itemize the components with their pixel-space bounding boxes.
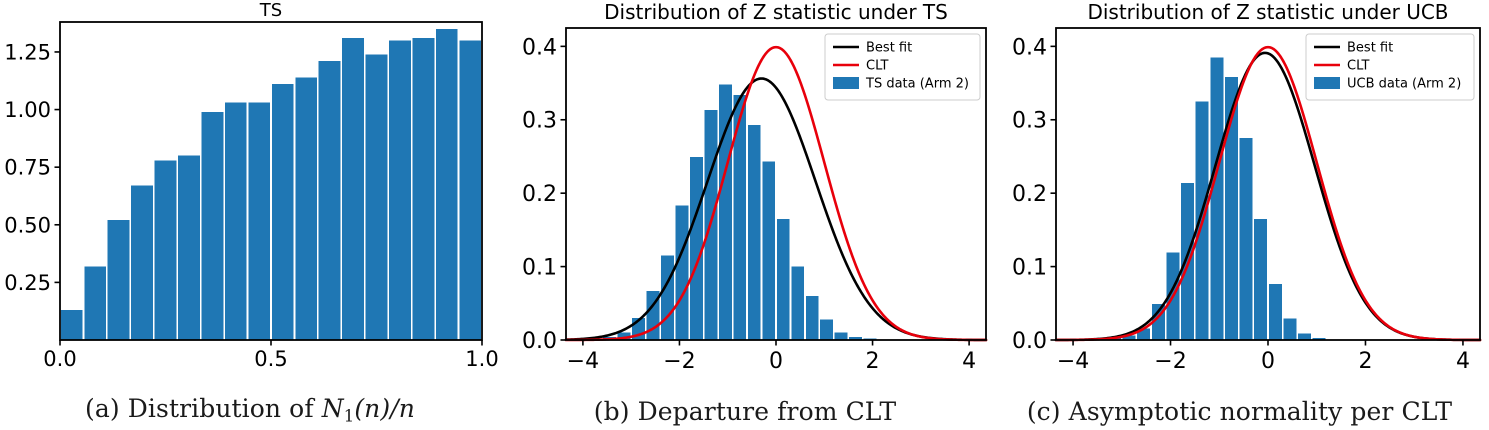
panel-a-plot: TS0.00.51.00.250.500.751.001.25: [0, 0, 500, 390]
x-tick-label: 4: [962, 349, 976, 374]
histogram-bar: [61, 310, 83, 340]
histogram-bar: [389, 40, 411, 340]
x-tick-label: 0: [1261, 349, 1275, 374]
three-panel-figure: TS0.00.51.00.250.500.751.001.25 (a) Dist…: [0, 0, 1489, 430]
x-tick-label: 0.0: [43, 347, 76, 371]
caption-a-math-tail: (n)/n: [354, 394, 415, 423]
histogram-bar: [762, 162, 775, 340]
histogram-bar: [661, 256, 674, 340]
histogram-bar: [675, 206, 688, 340]
panel-b-plot: Distribution of Z statistic under TS−4−2…: [500, 0, 990, 390]
histogram-bar: [1298, 333, 1311, 340]
y-tick-label: 0.1: [1012, 256, 1047, 281]
y-tick-label: 0.3: [522, 109, 557, 134]
panel-a-caption: (a) Distribution of N1(n)/n: [0, 394, 500, 426]
y-tick-label: 0.25: [4, 271, 51, 295]
panel-title: Distribution of Z statistic under UCB: [1087, 0, 1448, 24]
histogram-bar: [806, 296, 819, 340]
histogram-bar: [459, 40, 481, 340]
x-tick-label: −4: [1057, 349, 1089, 374]
y-tick-label: 0.2: [1012, 182, 1047, 207]
histogram-bar: [1283, 319, 1296, 340]
panel-a-ts-histogram: TS0.00.51.00.250.500.751.001.25 (a) Dist…: [0, 0, 500, 430]
histogram-bar: [412, 38, 434, 340]
caption-a-math-sub: 1: [344, 407, 355, 426]
histogram-bar: [748, 125, 761, 340]
histogram-bar: [791, 267, 804, 340]
histogram-bar: [820, 319, 833, 340]
panel-c-ucb-zstat: Distribution of Z statistic under UCB−4−…: [990, 0, 1489, 430]
y-tick-label: 0.1: [522, 256, 557, 281]
histogram-bar: [225, 103, 247, 340]
y-tick-label: 0.0: [522, 329, 557, 354]
y-tick-label: 0.4: [522, 35, 557, 60]
caption-a-math-N: N: [322, 394, 344, 423]
legend-label: UCB data (Arm 2): [1347, 77, 1461, 92]
histogram-bar: [342, 38, 364, 340]
histogram-bar: [1269, 284, 1282, 340]
x-tick-label: 4: [1456, 349, 1470, 374]
histogram-bar: [366, 54, 388, 340]
histogram-bars: [603, 85, 906, 340]
y-tick-label: 0.3: [1012, 109, 1047, 134]
histogram-bar: [108, 220, 130, 340]
x-tick-label: −2: [663, 349, 695, 374]
panel-b-caption: (b) Departure from CLT: [500, 397, 990, 426]
histogram-bar: [84, 266, 106, 340]
legend-label: TS data (Arm 2): [865, 77, 969, 92]
histogram-bar: [272, 84, 294, 340]
histogram-bars: [1108, 57, 1340, 340]
histogram-bar: [295, 77, 317, 340]
legend-label: CLT: [1347, 59, 1370, 74]
histogram-bar: [155, 160, 177, 340]
panel-title: Distribution of Z statistic under TS: [604, 0, 948, 24]
x-tick-label: 2: [1358, 349, 1372, 374]
histogram-bar: [835, 333, 848, 340]
histogram-bar: [777, 219, 790, 340]
y-tick-label: 1.25: [4, 41, 51, 65]
legend-patch-swatch: [833, 77, 859, 89]
panel-c-caption: (c) Asymptotic normality per CLT: [990, 397, 1489, 426]
histogram-bar: [319, 61, 341, 340]
x-tick-label: −2: [1154, 349, 1186, 374]
histogram-bar: [131, 186, 153, 340]
histogram-bar: [248, 103, 270, 340]
legend-patch-swatch: [1314, 77, 1340, 89]
histogram-bar: [1254, 219, 1267, 340]
x-tick-label: −4: [567, 349, 599, 374]
y-tick-label: 0.4: [1012, 35, 1047, 60]
caption-a-prefix: (a) Distribution of: [85, 394, 322, 423]
histogram-bar: [436, 29, 458, 340]
x-tick-label: 2: [866, 349, 880, 374]
panel-c-plot: Distribution of Z statistic under UCB−4−…: [990, 0, 1489, 390]
legend-label: Best fit: [1347, 41, 1393, 56]
x-tick-label: 0: [769, 349, 783, 374]
histogram-bar: [690, 157, 703, 340]
y-tick-label: 1.00: [4, 98, 51, 122]
legend-label: Best fit: [866, 41, 912, 56]
x-tick-label: 0.5: [254, 347, 287, 371]
panel-title: TS: [259, 0, 282, 21]
y-tick-label: 0.50: [4, 213, 51, 237]
y-tick-label: 0.2: [522, 182, 557, 207]
panel-b-ts-zstat: Distribution of Z statistic under TS−4−2…: [500, 0, 990, 430]
histogram-bar: [201, 112, 223, 340]
y-tick-label: 0.75: [4, 156, 51, 180]
histogram-bars: [61, 29, 481, 340]
histogram-bar: [1240, 138, 1253, 340]
histogram-bar: [178, 156, 200, 340]
curve-best-fit: [566, 79, 986, 340]
legend-label: CLT: [866, 59, 889, 74]
x-tick-label: 1.0: [465, 347, 498, 371]
y-tick-label: 0.0: [1012, 329, 1047, 354]
histogram-bar: [1210, 57, 1223, 340]
